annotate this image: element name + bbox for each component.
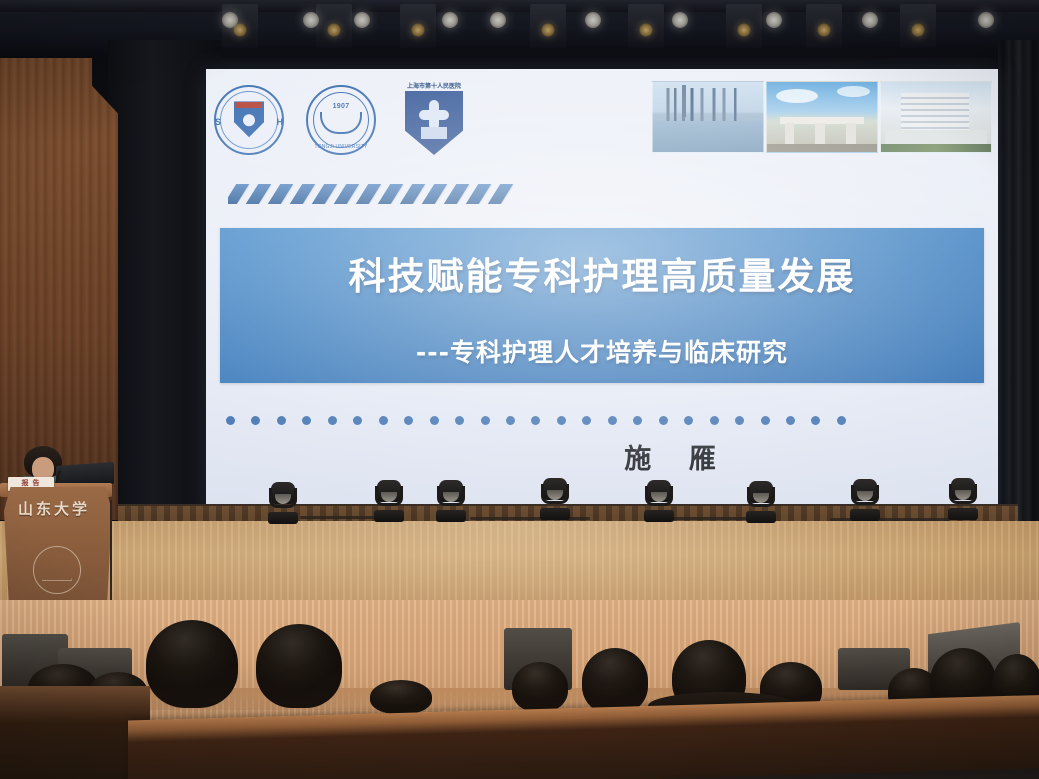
ceiling-light-fixture [806,4,842,48]
divider-dot [837,416,846,425]
divider-dot [353,416,362,425]
ceiling-light-fixture [726,4,762,48]
conference-hall-photo: SH 1907 TONGJI UNIVERSITY 上海市第十人民医院 [0,0,1039,779]
stage-moving-head-light [436,480,466,522]
hospital-building-photo [880,81,992,153]
shanghai-skyline-photo [652,81,764,153]
slide-presenter-name: 施 雁 [206,437,998,476]
university-seal-icon [33,546,81,594]
ceiling-lamp [222,12,238,28]
divider-dot [608,416,617,425]
ceiling-lamp [354,12,370,28]
divider-dot [430,416,439,425]
divider-dot [302,416,311,425]
ceiling-lamp [585,12,601,28]
stage-moving-head-light [850,479,880,521]
divider-dot [455,416,464,425]
stage-power-cable [830,518,950,521]
hospital-cn-text: 上海市第十人民医院 [407,81,461,90]
divider-dot [761,416,770,425]
ceiling-lamp [766,12,782,28]
stage-moving-head-light [540,478,570,520]
ceiling-lamp [303,12,319,28]
audience-person-head [512,662,568,712]
stage-moving-head-light [746,481,776,523]
divider-dot [811,416,820,425]
tongji-university-emblem-icon: 1907 TONGJI UNIVERSITY [306,85,376,155]
ceiling-light-fixture [400,4,436,48]
slide-logo-row: SH 1907 TONGJI UNIVERSITY 上海市第十人民医院 [214,81,470,159]
audience-person-head [582,648,648,714]
stage-moving-head-light [948,478,978,520]
divider-dot [481,416,490,425]
stage-power-cable [470,517,590,520]
ceiling-light-fixture [316,4,352,48]
divider-dot [582,416,591,425]
slide-stripe-decoration [228,184,528,204]
slide-title: 科技赋能专科护理高质量发展 [220,246,984,300]
projection-screen: SH 1907 TONGJI UNIVERSITY 上海市第十人民医院 [206,69,998,518]
slide-photo-strip [652,81,992,153]
divider-dot [328,416,337,425]
divider-dot [710,416,719,425]
divider-dot [226,416,235,425]
shandong-nursing-emblem-icon: SH [214,85,284,155]
divider-dot [786,416,795,425]
stage-moving-head-light [644,480,674,522]
ceiling-truss-bar [0,0,1039,12]
stage-curtain-right [998,40,1039,540]
ceiling-light-fixture [530,4,566,48]
divider-dot [506,416,515,425]
ceiling-lamp [978,12,994,28]
slide-dot-divider [226,414,846,426]
ceiling-lamp [442,12,458,28]
presentation-slide: SH 1907 TONGJI UNIVERSITY 上海市第十人民医院 [206,69,998,518]
tongji-en-text: TONGJI UNIVERSITY [314,144,367,150]
audience-person-head [146,620,238,708]
ceiling-lamp [672,12,688,28]
ceiling-light-fixture [628,4,664,48]
campus-gate-photo [766,81,878,153]
audience-person-head [256,624,342,708]
divider-dot [531,416,540,425]
divider-dot [277,416,286,425]
divider-dot [633,416,642,425]
slide-subtitle: ---专科护理人才培养与临床研究 [220,333,984,369]
ceiling-lamp [862,12,878,28]
divider-dot [251,416,260,425]
stage-moving-head-light [268,482,298,524]
divider-dot [735,416,744,425]
ceiling-lamp [490,12,506,28]
divider-dot [659,416,668,425]
divider-dot [684,416,693,425]
podium-university-text: 山东大学 [0,498,108,519]
slide-title-band: 科技赋能专科护理高质量发展 ---专科护理人才培养与临床研究 [220,228,984,383]
divider-dot [379,416,388,425]
divider-dot [557,416,566,425]
divider-dot [404,416,413,425]
stage-moving-head-light [374,480,404,522]
left-dark-wall [108,40,220,526]
tongji-year-text: 1907 [333,103,350,110]
tenth-peoples-hospital-emblem-icon: 上海市第十人民医院 [398,81,470,159]
audience-person-head [370,680,432,714]
ceiling-light-fixture [900,4,936,48]
